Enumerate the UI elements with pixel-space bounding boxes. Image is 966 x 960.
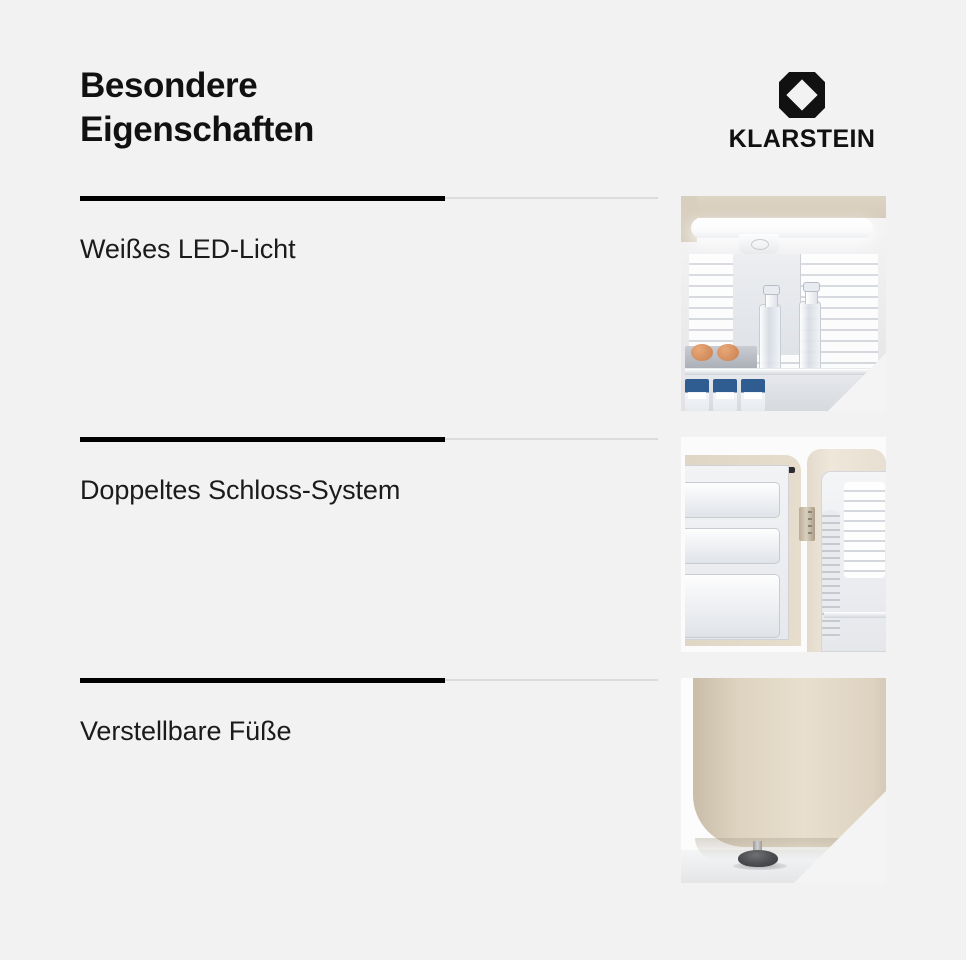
fridge-door-lock-system-photo xyxy=(681,437,886,652)
klarstein-octagon-mark-icon xyxy=(779,72,825,118)
yogurt-container xyxy=(741,379,765,411)
divider-dark-segment xyxy=(80,678,445,683)
door-hinge xyxy=(799,507,815,541)
adjustable-foot-photo xyxy=(681,678,886,883)
divider-dark-segment xyxy=(80,437,445,442)
page-title: Besondere Eigenschaften xyxy=(80,64,314,152)
fridge-top-frame xyxy=(681,196,886,218)
divider-light-segment xyxy=(445,438,658,440)
brand-logo: KLARSTEIN xyxy=(716,72,888,152)
fridge-door xyxy=(685,455,801,646)
feature-divider xyxy=(80,437,658,443)
feature-label: Doppeltes Schloss-System xyxy=(80,475,400,506)
divider-dark-segment xyxy=(80,196,445,201)
fridge-cavity xyxy=(821,471,886,652)
feature-label: Weißes LED-Licht xyxy=(80,234,295,265)
photo-corner-cut xyxy=(826,351,886,411)
photo-content xyxy=(681,437,886,652)
egg xyxy=(691,344,713,361)
door-shelf xyxy=(685,574,780,638)
divider-light-segment xyxy=(445,197,658,199)
adjustable-foot xyxy=(738,850,778,867)
page-header: Besondere Eigenschaften KLARSTEIN xyxy=(80,64,888,174)
yogurt-container xyxy=(713,379,737,411)
fridge-cabinet xyxy=(807,449,886,652)
feature-page: Besondere Eigenschaften KLARSTEIN Weißes… xyxy=(0,0,966,960)
led-light-housing xyxy=(739,234,779,254)
door-shelf xyxy=(685,482,780,518)
fridge-interior-led-light-photo xyxy=(681,196,886,411)
evaporator-plate xyxy=(844,482,885,578)
yogurt-container xyxy=(685,379,709,411)
cavity-shelf xyxy=(824,612,886,618)
feature-divider xyxy=(80,196,658,202)
led-light-bar xyxy=(691,218,873,238)
door-inner-liner xyxy=(685,465,789,640)
feature-label: Verstellbare Füße xyxy=(80,716,291,747)
feature-divider xyxy=(80,678,658,684)
photo-corner-cut xyxy=(792,789,886,883)
divider-light-segment xyxy=(445,679,658,681)
brand-wordmark: KLARSTEIN xyxy=(729,127,876,152)
door-shelf xyxy=(685,528,780,564)
cooling-coil xyxy=(822,510,840,640)
egg xyxy=(717,344,739,361)
